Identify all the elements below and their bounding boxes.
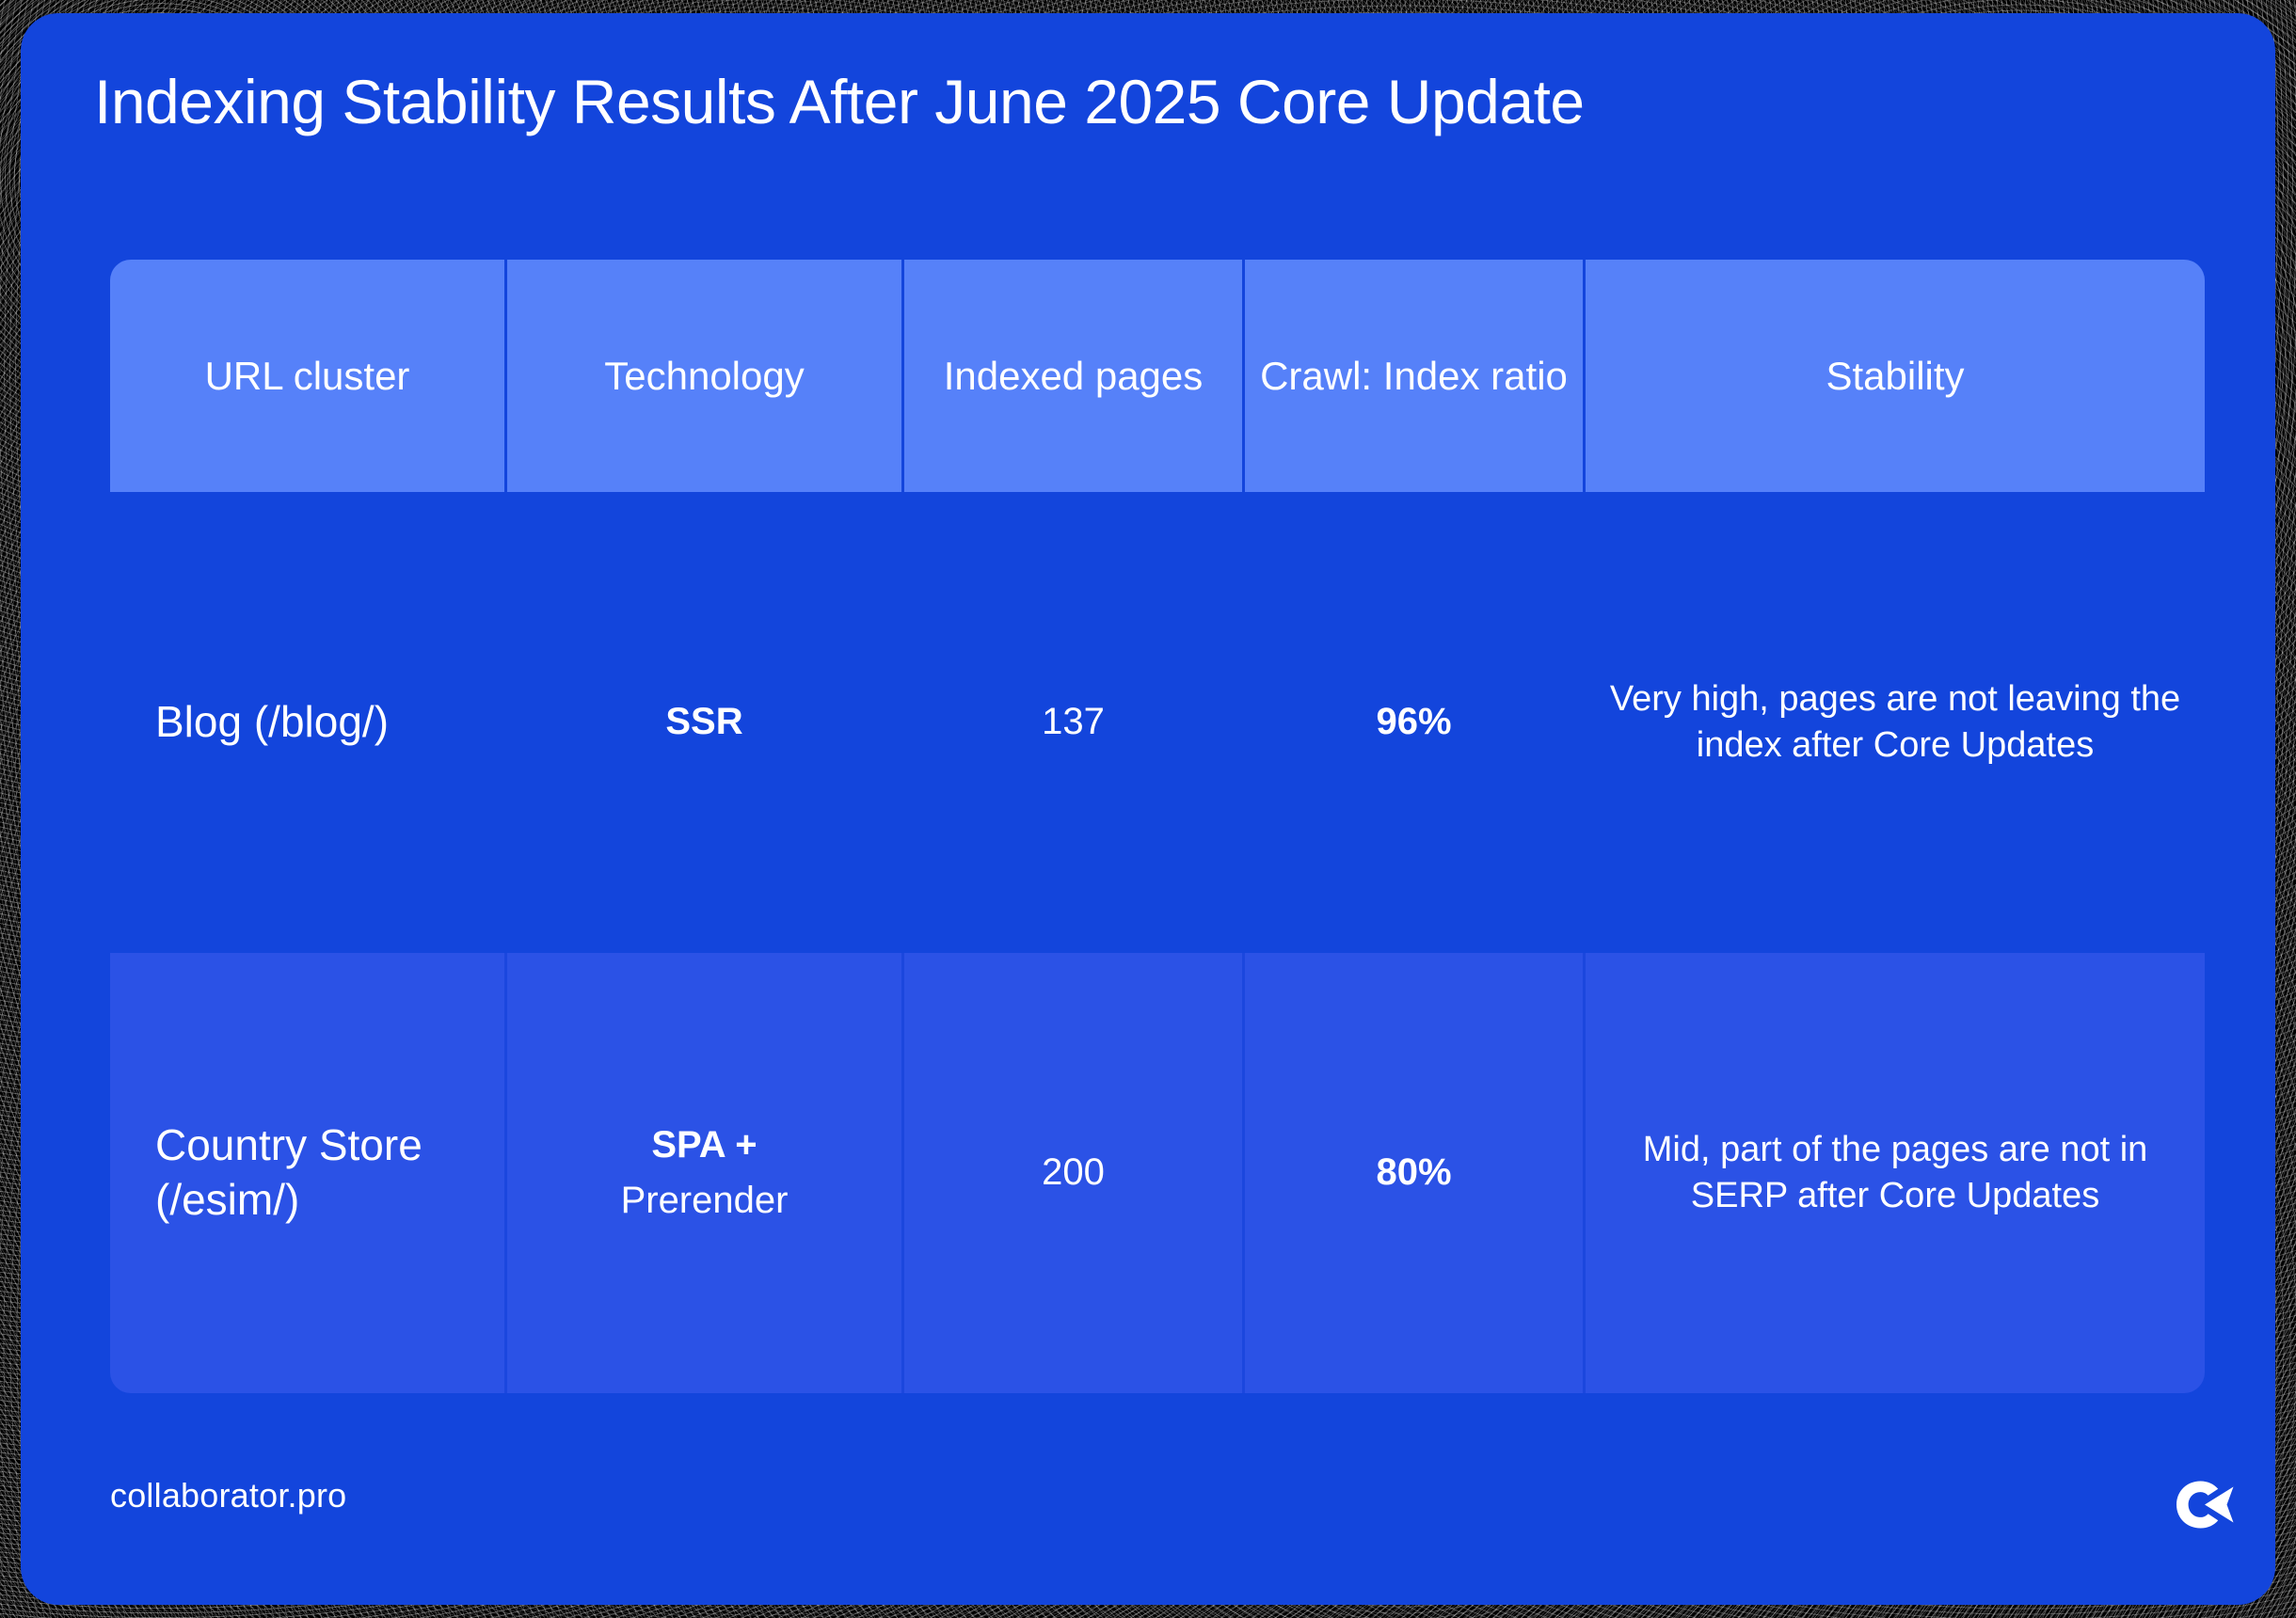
footer-domain: collaborator.pro bbox=[110, 1476, 346, 1515]
column-header-indexed-pages: Indexed pages bbox=[904, 260, 1245, 492]
cell-url-cluster: Blog (/blog/) bbox=[110, 492, 507, 953]
cell-indexed-pages: 137 bbox=[904, 492, 1245, 953]
collaborator-logo-icon bbox=[2174, 1479, 2236, 1531]
table-header-row: URL cluster Technology Indexed pages Cra… bbox=[110, 260, 2205, 492]
column-header-stability: Stability bbox=[1586, 260, 2205, 492]
cell-technology: SSR bbox=[507, 492, 904, 953]
page-title: Indexing Stability Results After June 20… bbox=[94, 68, 2202, 137]
cell-technology: SPA + Prerender bbox=[507, 953, 904, 1393]
column-header-crawl-index-ratio: Crawl: Index ratio bbox=[1245, 260, 1586, 492]
cell-crawl-index-ratio: 80% bbox=[1245, 953, 1586, 1393]
cell-crawl-index-ratio: 96% bbox=[1245, 492, 1586, 953]
cell-stability: Mid, part of the pages are not in SERP a… bbox=[1586, 953, 2205, 1393]
infographic-card: Indexing Stability Results After June 20… bbox=[21, 13, 2275, 1605]
cell-indexed-pages: 200 bbox=[904, 953, 1245, 1393]
cell-technology-line2: Prerender bbox=[621, 1177, 789, 1225]
column-header-technology: Technology bbox=[507, 260, 904, 492]
results-table: URL cluster Technology Indexed pages Cra… bbox=[110, 260, 2205, 1393]
cell-technology-line1: SPA + bbox=[651, 1121, 757, 1169]
table-row: Blog (/blog/) SSR 137 96% Very high, pag… bbox=[110, 492, 2205, 953]
cell-url-cluster: Country Store (/esim/) bbox=[110, 953, 507, 1393]
cell-technology-stack: SPA + Prerender bbox=[621, 1121, 789, 1225]
cell-stability: Very high, pages are not leaving the ind… bbox=[1586, 492, 2205, 953]
table-row: Country Store (/esim/) SPA + Prerender 2… bbox=[110, 953, 2205, 1393]
column-header-url-cluster: URL cluster bbox=[110, 260, 507, 492]
